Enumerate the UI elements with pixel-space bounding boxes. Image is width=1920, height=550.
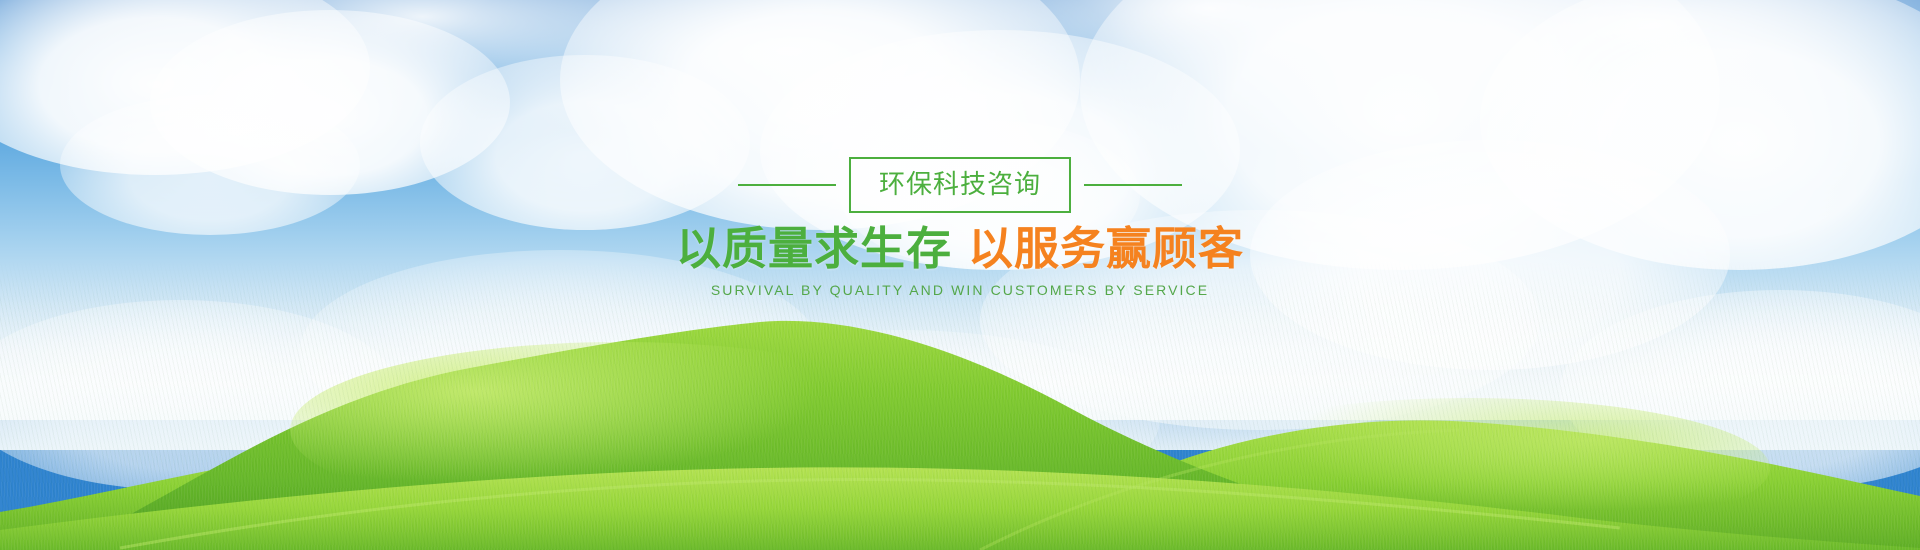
left-rule-line [738,184,836,186]
cloud-shape [60,95,360,235]
cloud-shape [420,55,750,230]
subtitle-english: SURVIVAL BY QUALITY AND WIN CUSTOMERS BY… [711,283,1209,297]
eyebrow-row: 环保科技咨询 [738,157,1182,213]
eyebrow-box: 环保科技咨询 [849,157,1071,213]
hero-banner: 环保科技咨询 以质量求生存以服务赢顾客 SURVIVAL BY QUALITY … [0,0,1920,550]
headline-green-text: 以质量求生存 [676,223,952,274]
eyebrow-label: 环保科技咨询 [879,171,1041,197]
headline: 以质量求生存以服务赢顾客 [676,224,1244,274]
cloud-shape [150,10,510,195]
headline-orange-text: 以服务赢顾客 [968,223,1244,274]
cloud-shape [1480,0,1920,270]
cloud-shape [0,0,370,175]
right-rule-line [1084,184,1182,186]
grass-hills [0,260,1920,550]
